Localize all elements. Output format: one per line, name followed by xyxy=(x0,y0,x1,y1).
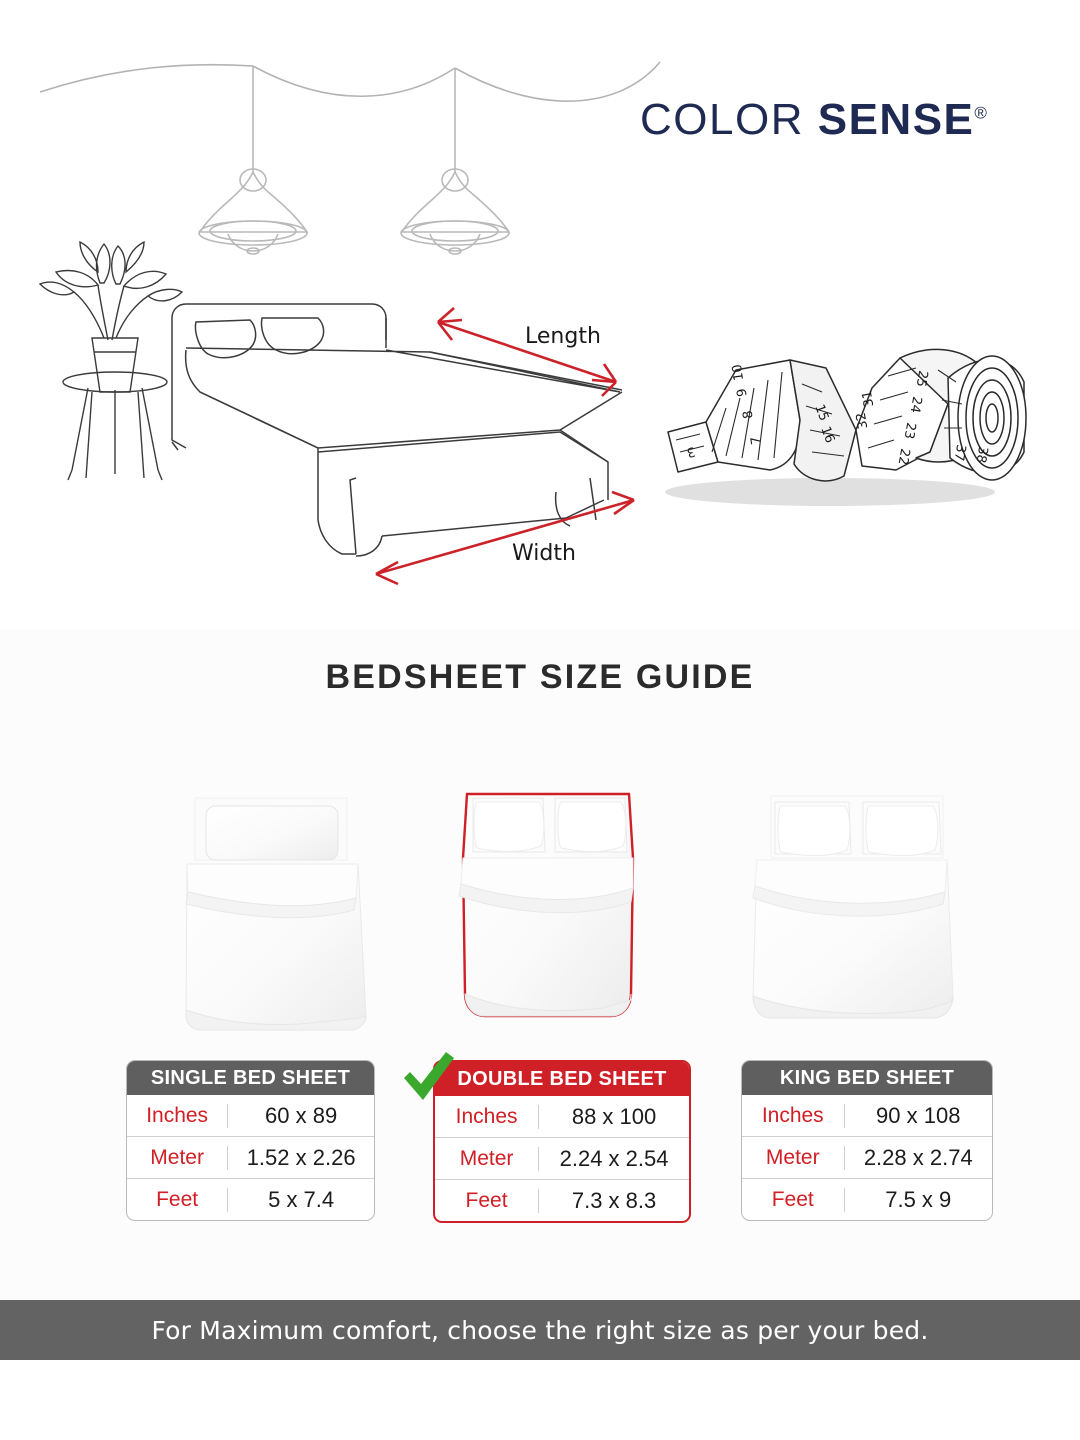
bed-image-single xyxy=(160,780,390,1050)
svg-text:25: 25 xyxy=(913,369,931,388)
svg-text:38: 38 xyxy=(973,445,991,464)
size-table-header-king: KING BED SHEET xyxy=(742,1061,992,1095)
table-row: Meter 1.52 x 2.26 xyxy=(127,1137,374,1179)
bottom-spacer xyxy=(0,1360,1080,1440)
footer-banner: For Maximum comfort, choose the right si… xyxy=(0,1300,1080,1360)
bed-image-double xyxy=(443,780,658,1045)
brand-word-sense: SENSE xyxy=(818,95,975,144)
bed-image-king xyxy=(735,780,967,1045)
size-table-double[interactable]: DOUBLE BED SHEET Inches 88 x 100 Meter 2… xyxy=(433,1060,691,1223)
size-value: 1.52 x 2.26 xyxy=(228,1145,374,1171)
size-value: 88 x 100 xyxy=(539,1104,689,1130)
unit-label: Meter xyxy=(127,1146,228,1170)
table-row: Inches 60 x 89 xyxy=(127,1095,374,1137)
size-table-king[interactable]: KING BED SHEET Inches 90 x 108 Meter 2.2… xyxy=(741,1060,993,1221)
size-value: 7.5 x 9 xyxy=(845,1187,993,1213)
size-value: 2.24 x 2.54 xyxy=(539,1146,689,1172)
size-table-header-single: SINGLE BED SHEET xyxy=(127,1061,374,1095)
page-title: BEDSHEET SIZE GUIDE xyxy=(0,658,1080,697)
size-guide-section: BEDSHEET SIZE GUIDE xyxy=(0,630,1080,1300)
table-row: Feet 7.3 x 8.3 xyxy=(435,1180,689,1221)
table-row: Inches 88 x 100 xyxy=(435,1096,689,1138)
svg-text:22: 22 xyxy=(895,447,913,466)
potted-plant-icon xyxy=(40,242,182,480)
unit-label: Inches xyxy=(742,1104,845,1128)
table-row: Feet 7.5 x 9 xyxy=(742,1179,992,1220)
table-row: Feet 5 x 7.4 xyxy=(127,1179,374,1220)
brand-word-color: COLOR xyxy=(640,95,804,144)
unit-label: Feet xyxy=(742,1188,845,1212)
unit-label: Inches xyxy=(435,1105,539,1129)
pendant-lamp-left-icon xyxy=(199,66,307,254)
table-row: Meter 2.24 x 2.54 xyxy=(435,1138,689,1180)
size-table-single[interactable]: SINGLE BED SHEET Inches 60 x 89 Meter 1.… xyxy=(126,1060,375,1221)
checkmark-icon xyxy=(398,1048,456,1106)
unit-label: Feet xyxy=(435,1189,539,1213)
size-table-header-double: DOUBLE BED SHEET xyxy=(435,1062,689,1096)
measuring-tape-icon: 3 7 8 9 10 16 15 22 23 24 25 31 32 37 38 xyxy=(665,349,1026,506)
unit-label: Meter xyxy=(435,1147,539,1171)
size-value: 5 x 7.4 xyxy=(228,1187,374,1213)
length-label: Length xyxy=(525,324,601,349)
brand-logo: COLOR SENSE® xyxy=(640,95,988,145)
size-value: 2.28 x 2.74 xyxy=(845,1145,993,1171)
width-label: Width xyxy=(512,541,576,566)
svg-text:24: 24 xyxy=(907,395,925,414)
table-row: Meter 2.28 x 2.74 xyxy=(742,1137,992,1179)
unit-label: Inches xyxy=(127,1104,228,1128)
table-row: Inches 90 x 108 xyxy=(742,1095,992,1137)
registered-mark-icon: ® xyxy=(974,103,988,122)
pendant-lamp-right-icon xyxy=(401,68,509,254)
pendant-wire xyxy=(40,62,660,101)
svg-text:23: 23 xyxy=(901,421,919,440)
svg-text:10: 10 xyxy=(730,363,747,381)
svg-text:32: 32 xyxy=(854,411,872,430)
size-value: 7.3 x 8.3 xyxy=(539,1188,689,1214)
size-value: 90 x 108 xyxy=(845,1103,993,1129)
width-arrow-icon xyxy=(376,492,634,584)
footer-text: For Maximum comfort, choose the right si… xyxy=(151,1316,928,1345)
svg-text:37: 37 xyxy=(951,443,969,462)
unit-label: Meter xyxy=(742,1146,845,1170)
svg-text:31: 31 xyxy=(860,389,878,408)
size-value: 60 x 89 xyxy=(228,1103,374,1129)
unit-label: Feet xyxy=(127,1188,228,1212)
hero-illustration-section: 3 7 8 9 10 16 15 22 23 24 25 31 32 37 38… xyxy=(0,0,1080,630)
